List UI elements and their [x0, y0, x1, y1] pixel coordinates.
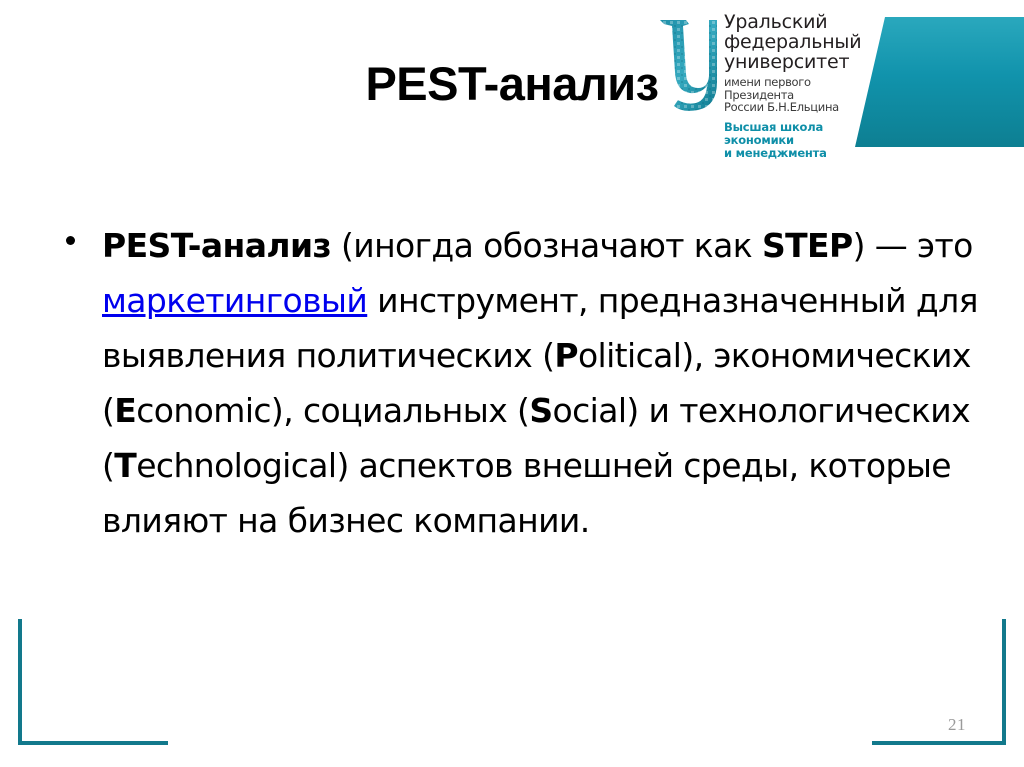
corner-bracket-left: [18, 619, 168, 745]
logo-sub-line-2: России Б.Н.Ельцина: [724, 101, 874, 114]
logo-school-line-2: экономики: [724, 134, 874, 147]
logo-sub-line-1: имени первого Президента: [724, 76, 874, 101]
slide-body: PEST-анализ (иногда обозначают как STEP)…: [56, 185, 986, 581]
bullet-list-item: PEST-анализ (иногда обозначают как STEP)…: [56, 218, 986, 548]
body-bold-run: STEP: [762, 226, 853, 265]
page-number: 21: [948, 715, 966, 735]
body-text-run: ) — это: [853, 226, 973, 265]
logo-school-line-3: и менеджмента: [724, 147, 874, 160]
body-text-run: (иногда обозначают как: [331, 226, 762, 265]
slide: PEST-анализ: [0, 0, 1024, 767]
body-bold-run: P: [554, 336, 578, 375]
corner-bracket-right: [872, 619, 1006, 745]
body-hyperlink[interactable]: маркетинговый: [102, 281, 367, 320]
body-bold-run: T: [114, 446, 136, 485]
slide-header: PEST-анализ: [0, 0, 1024, 168]
urfu-logo-text: Уральский федеральный университет имени …: [724, 12, 874, 160]
logo-name-line-2: федеральный: [724, 32, 874, 52]
logo-name-line-3: университет: [724, 52, 874, 72]
urfu-u-mark-icon: [656, 14, 720, 124]
body-bold-run: E: [114, 391, 136, 430]
urfu-logo: Уральский федеральный университет имени …: [652, 8, 1024, 160]
body-paragraph: PEST-анализ (иногда обозначают как STEP)…: [102, 218, 986, 548]
body-bold-run: S: [529, 391, 552, 430]
body-bold-run: PEST-анализ: [102, 226, 331, 265]
bullet-dot-icon: [66, 236, 75, 245]
body-text-run: echnological) аспектов внешней среды, ко…: [102, 446, 951, 540]
logo-school-line-1: Высшая школа: [724, 121, 874, 134]
body-text-run: conomic), социальных (: [136, 391, 529, 430]
logo-name-line-1: Уральский: [724, 12, 874, 32]
